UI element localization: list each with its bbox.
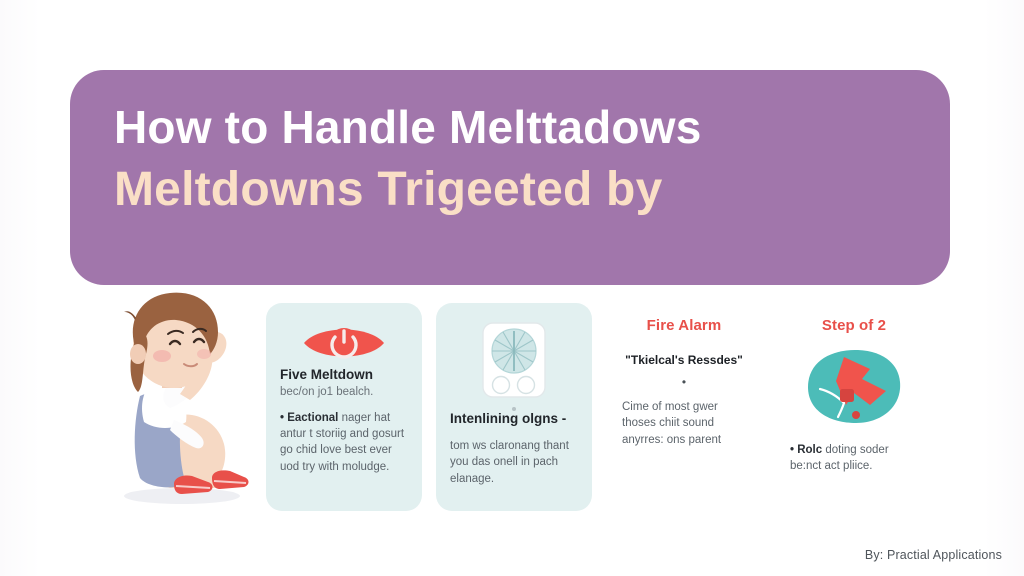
card-body-lead: • Eactional	[280, 412, 338, 424]
card-subline: bec/on jo1 bealch.	[280, 385, 408, 400]
bullet-dot: •	[682, 375, 686, 389]
card-heading: Fire Alarm	[620, 317, 748, 336]
card-meltdown[interactable]: Five Meltdown bec/on jo1 bealch. • Eacti…	[266, 303, 422, 511]
card-step-of-2[interactable]: Step of 2 • Rolc doting soder be:nct act…	[776, 303, 932, 511]
card-body: tom ws claronang thant you das onell in …	[450, 438, 578, 487]
card-warning-signs[interactable]: Intenlining olgns - tom ws claronang tha…	[436, 303, 592, 511]
card-body: Cime of most gwer thoses chiit sound any…	[620, 399, 748, 448]
card-body-lead: • Rolc	[790, 444, 822, 456]
card-body: • Rolc doting soder be:nct act pliice.	[790, 442, 918, 475]
card-fire-alarm[interactable]: Fire Alarm "Tkielcal's Ressdes" • Cime o…	[606, 303, 762, 511]
teal-blob-arrow-icon	[790, 344, 918, 432]
card-heading: Intenlining olgns -	[450, 411, 578, 428]
cards-row: Five Meltdown bec/on jo1 bealch. • Eacti…	[266, 303, 958, 511]
sitting-child-illustration	[78, 288, 278, 513]
thermostat-device-icon	[450, 319, 578, 401]
eye-power-icon	[280, 319, 408, 367]
card-heading: Step of 2	[790, 317, 918, 336]
footer-credit: By: Practial Applications	[865, 548, 1002, 562]
infographic-poster: How to Handle Melttadows Meltdowns Trige…	[0, 0, 1024, 576]
card-quote: "Tkielcal's Ressdes"	[625, 352, 743, 369]
page-title-line-2: Meltdowns Trigeeted by	[114, 159, 906, 220]
card-body: • Eactional nager hat antur t storiig an…	[280, 410, 408, 475]
page-title-line-1: How to Handle Melttadows	[114, 98, 906, 157]
title-banner: How to Handle Melttadows Meltdowns Trige…	[70, 70, 950, 285]
card-heading: Five Meltdown	[280, 367, 408, 384]
